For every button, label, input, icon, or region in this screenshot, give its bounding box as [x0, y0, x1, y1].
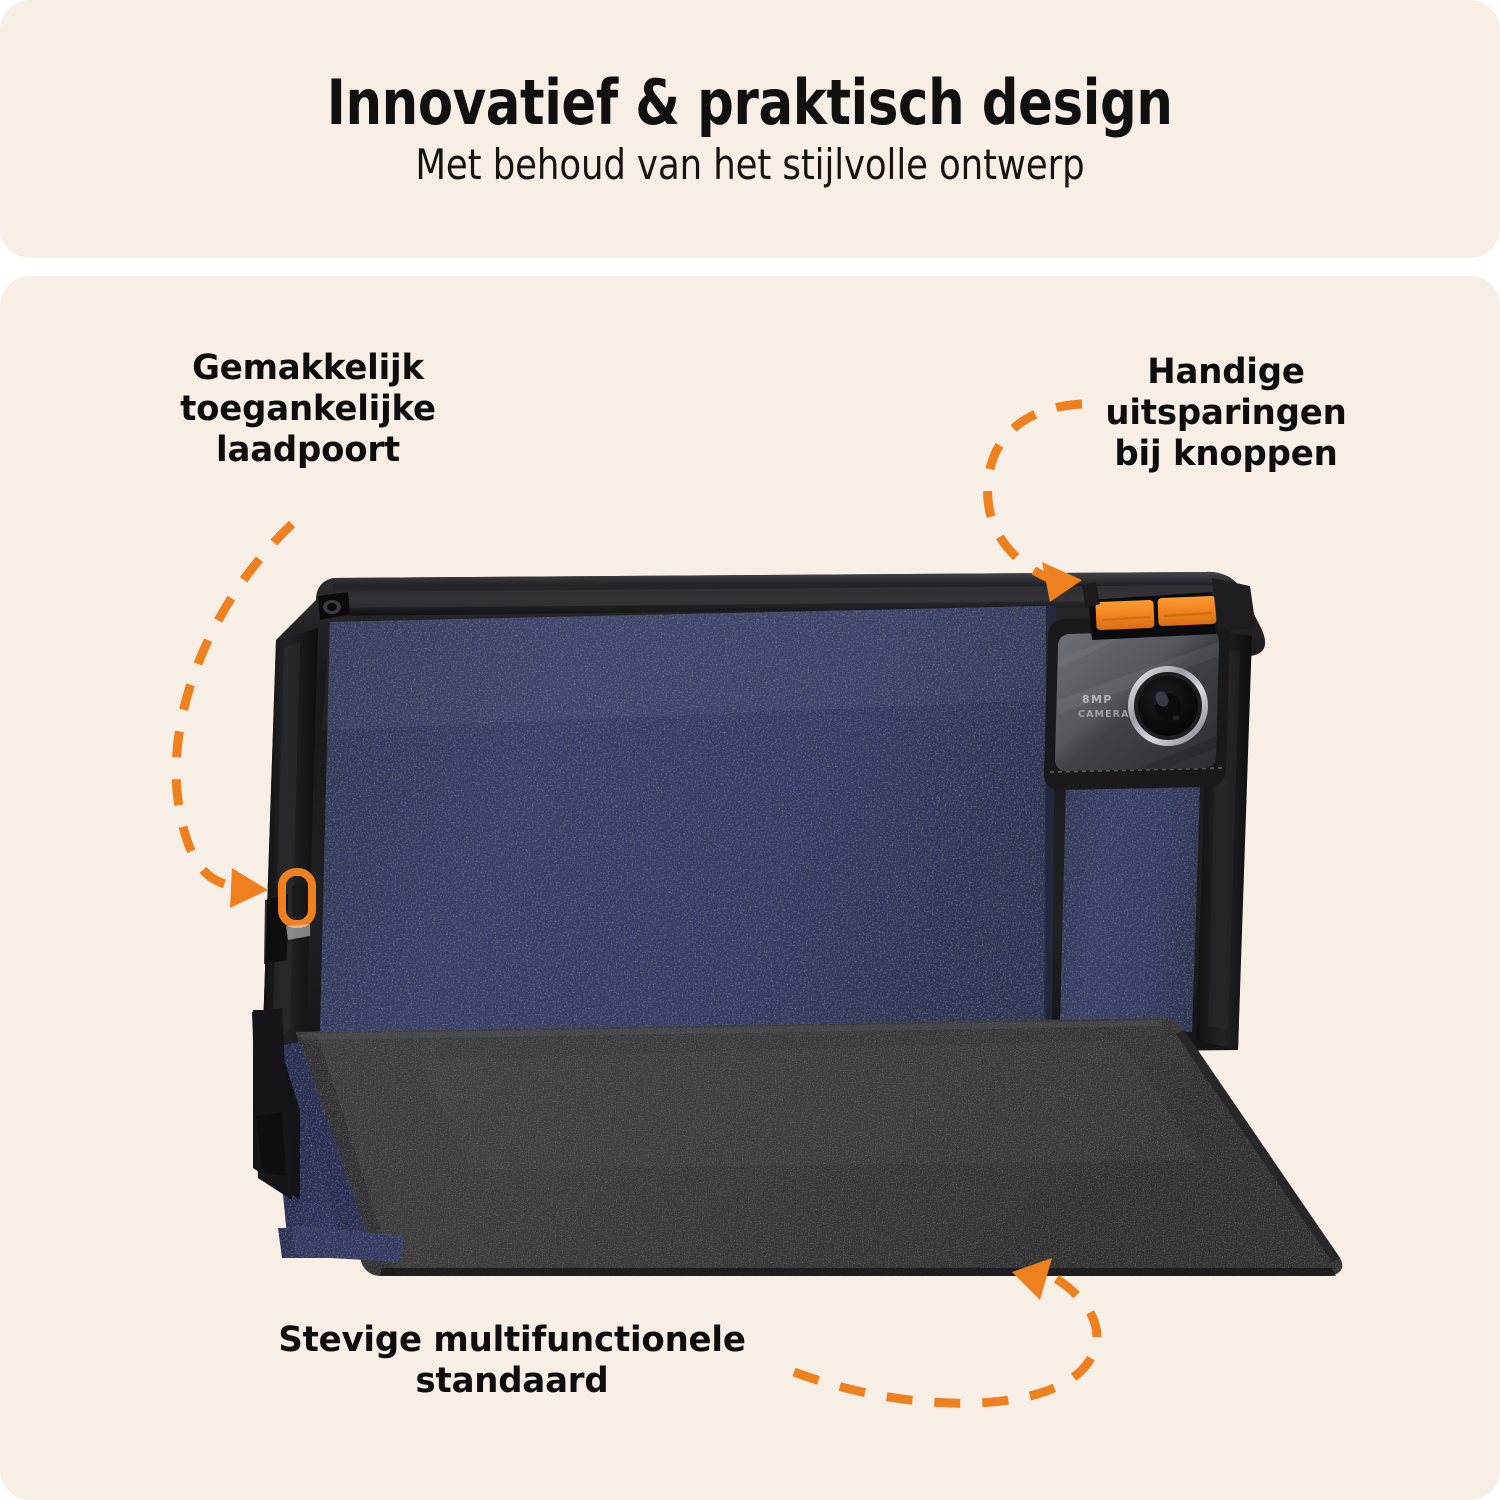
button-cutout-1	[1095, 600, 1154, 630]
callout-multifunctional-stand: Stevige multifunctionele standaard	[221, 1320, 803, 1402]
kickstand	[296, 1018, 1342, 1276]
callout-charging-line-1: Gemakkelijk	[114, 348, 502, 389]
button-cutout-2	[1157, 596, 1216, 626]
camera-label-line1: 8MP	[1082, 693, 1113, 706]
callout-stand-line-1: Stevige multifunctionele	[221, 1320, 803, 1361]
callout-stand-line-2: standaard	[221, 1361, 803, 1402]
callout-buttons-line-1: Handige	[1075, 352, 1378, 393]
infographic-stage: Innovatief & praktisch design Met behoud…	[0, 0, 1500, 1500]
callout-charging-line-2: toegankelijke	[114, 389, 502, 430]
callout-buttons-line-3: bij knoppen	[1075, 434, 1378, 475]
callout-charging-line-3: laadpoort	[114, 430, 502, 471]
callout-button-cutouts: Handige uitsparingen bij knoppen	[1075, 352, 1378, 475]
camera-label-line2: CAMERA	[1078, 709, 1130, 720]
camera-module: 8MP CAMERA	[1044, 614, 1230, 790]
product-illustration: 8MP CAMERA	[0, 0, 1500, 1500]
callout-buttons-line-2: uitsparingen	[1075, 393, 1378, 434]
callout-charging-port: Gemakkelijk toegankelijke laadpoort	[114, 348, 502, 471]
